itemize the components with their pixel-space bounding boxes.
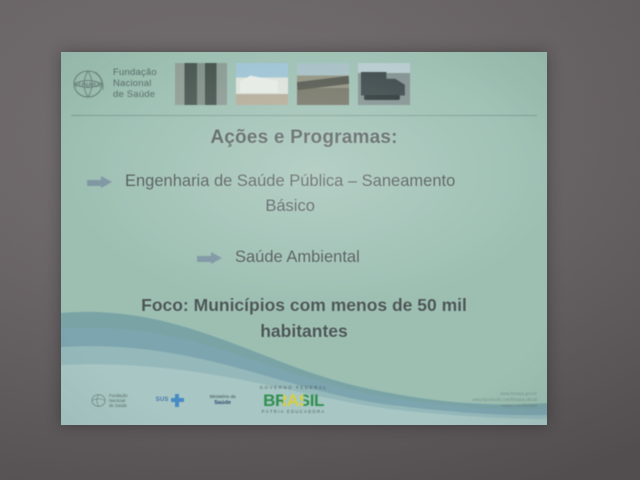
footer-funasa-line-2: Nacional: [109, 398, 128, 403]
funasa-globe-icon: [91, 394, 106, 407]
photo-white-houses: [236, 63, 288, 105]
slide-body: Ações e Programas: Engenharia de Saúde P…: [61, 115, 547, 344]
slide-title: Ações e Programas:: [61, 127, 547, 149]
bullet-1-line-2: Básico: [125, 194, 455, 219]
funasa-line-3: de Saúde: [113, 89, 157, 100]
footer-sus-logo: SUS: [156, 394, 184, 407]
focus-line-2: habitantes: [61, 318, 547, 344]
funasa-line-2: Nacional: [113, 78, 157, 89]
ministry-line-2: Saúde: [214, 400, 231, 406]
bullet-item-2: Saúde Ambiental: [61, 245, 547, 270]
footer-government-logo: GOVERNO FEDERAL BRASIL PÁTRIA EDUCADORA: [260, 386, 328, 414]
funasa-logo: FUNASA Fundação Nacional de Saúde: [71, 67, 157, 100]
footer-url-3: twitter.com/funasa: [472, 403, 537, 409]
bullet-item-1: Engenharia de Saúde Pública – Saneamento…: [61, 169, 547, 219]
slide-header: FUNASA Fundação Nacional de Saúde: [61, 52, 547, 115]
focus-statement: Foco: Municípios com menos de 50 mil hab…: [61, 292, 547, 344]
bullet-1-text: Engenharia de Saúde Pública – Saneamento…: [125, 169, 455, 219]
bullet-2-line-1: Saúde Ambiental: [235, 245, 360, 270]
slide-footer: Fundação Nacional de Saúde SUS Ministéri…: [61, 383, 547, 417]
photo-water-truck: [358, 63, 410, 105]
funasa-wordmark: FUNASA: [75, 82, 101, 89]
sus-wordmark: SUS: [156, 397, 169, 403]
footer-funasa-line-3: de Saúde: [109, 403, 128, 408]
funasa-globe-icon: FUNASA: [71, 68, 107, 100]
patria-educadora-label: PÁTRIA EDUCADORA: [260, 410, 328, 414]
funasa-logo-text: Fundação Nacional de Saúde: [113, 67, 157, 100]
header-photo-strip: [175, 63, 410, 105]
footer-funasa-line-1: Fundação: [109, 393, 128, 398]
presentation-slide: FUNASA Fundação Nacional de Saúde Ações …: [61, 52, 547, 425]
footer-ministry-logo: Ministério da Saúde: [210, 394, 236, 406]
arrow-right-bullet-icon: [87, 176, 113, 189]
bullet-1-line-1: Engenharia de Saúde Pública – Saneamento: [125, 169, 455, 194]
brasil-wordmark: BRASIL: [260, 392, 328, 409]
footer-funasa-text: Fundação Nacional de Saúde: [109, 393, 128, 408]
sus-cross-icon: [171, 394, 184, 407]
arrow-right-bullet-icon: [197, 252, 223, 265]
photo-latrine-structure: [175, 63, 227, 105]
bullet-2-text: Saúde Ambiental: [235, 245, 360, 270]
footer-urls: www.funasa.gov.br www.facebook.com/funas…: [472, 391, 537, 409]
focus-line-1: Foco: Municípios com menos de 50 mil: [61, 292, 547, 318]
photo-earthworks-construction: [297, 63, 349, 105]
funasa-line-1: Fundação: [113, 67, 157, 78]
government-federal-label: GOVERNO FEDERAL: [260, 386, 328, 390]
footer-funasa-logo: Fundação Nacional de Saúde: [91, 393, 128, 408]
